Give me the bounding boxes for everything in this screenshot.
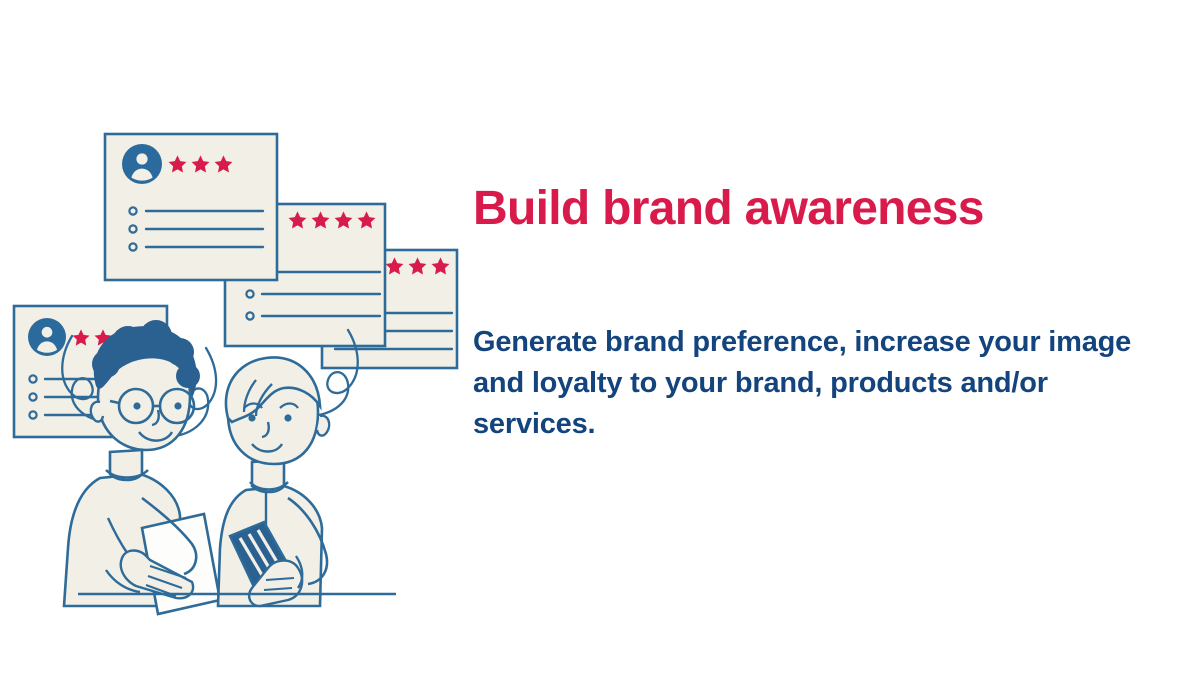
avatar [122,144,162,184]
review-card-top-center [105,134,277,280]
person-right [218,357,329,606]
page-title: Build brand awareness [473,182,1173,236]
text-block: Build brand awareness Generate brand pre… [473,182,1173,445]
subcopy-paragraph: Generate brand preference, increase your… [473,236,1173,446]
illustration-two-people-with-review-cards [0,118,460,618]
avatar [28,318,66,356]
slide-root: Build brand awareness Generate brand pre… [0,0,1200,675]
